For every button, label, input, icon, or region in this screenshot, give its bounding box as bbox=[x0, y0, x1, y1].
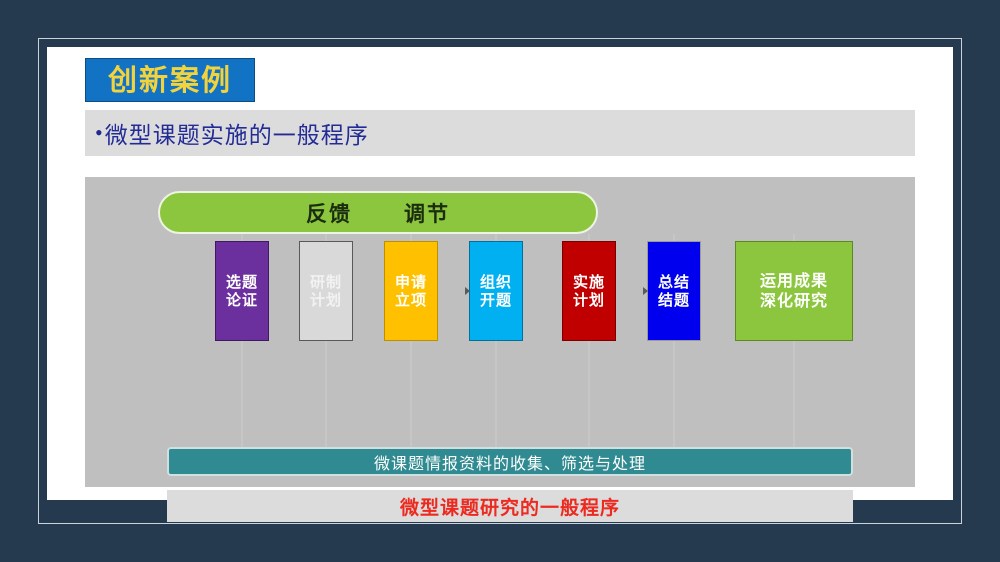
diagram-caption-text: 微型课题研究的一般程序 bbox=[400, 493, 620, 520]
process-step-plan-drafting: 研制计划 bbox=[299, 241, 353, 341]
connector-line-top bbox=[793, 234, 795, 241]
connector-line-top bbox=[673, 234, 675, 241]
information-support-bar: 微课题情报资料的收集、筛选与处理 bbox=[167, 447, 853, 476]
information-support-text: 微课题情报资料的收集、筛选与处理 bbox=[374, 450, 646, 474]
process-step-label: 结题 bbox=[658, 291, 690, 309]
process-step-label: 运用成果 bbox=[760, 271, 828, 291]
connector-line-bottom bbox=[673, 341, 675, 447]
process-step-plan-execution: 实施计划 bbox=[562, 241, 616, 341]
process-step-label: 计划 bbox=[310, 291, 342, 309]
process-step-label: 计划 bbox=[573, 291, 605, 309]
feedback-adjust-pill: 反馈 调节 bbox=[158, 191, 598, 234]
flow-arrow-icon bbox=[643, 287, 648, 295]
connector-line-top bbox=[325, 234, 327, 241]
process-step-topic-selection: 选题论证 bbox=[215, 241, 269, 341]
connector-line-top bbox=[588, 234, 590, 241]
diagram-panel: 反馈 调节 选题论证研制计划申请立项组织开题实施计划总结结题运用成果深化研究 微… bbox=[85, 177, 915, 487]
connector-line-bottom bbox=[325, 341, 327, 447]
adjust-label: 调节 bbox=[404, 198, 450, 228]
process-step-label: 实施 bbox=[573, 273, 605, 291]
process-step-label: 开题 bbox=[480, 291, 512, 309]
page-title-chip: 创新案例 bbox=[85, 58, 255, 102]
connector-line-bottom bbox=[588, 341, 590, 447]
flow-arrow-icon bbox=[465, 287, 470, 295]
connector-line-top bbox=[241, 234, 243, 241]
bullet-icon: • bbox=[95, 122, 103, 144]
connector-line-bottom bbox=[793, 341, 795, 447]
process-step-label: 立项 bbox=[395, 291, 427, 309]
process-step-label: 申请 bbox=[395, 273, 427, 291]
slide-stage: 创新案例 • 微型课题实施的一般程序 反馈 调节 选题论证研制计划申请立项组织开… bbox=[0, 0, 1000, 562]
process-step-summary-conclusion: 总结结题 bbox=[647, 241, 701, 341]
diagram-caption-bar: 微型课题研究的一般程序 bbox=[167, 490, 853, 522]
slide-canvas: 创新案例 • 微型课题实施的一般程序 反馈 调节 选题论证研制计划申请立项组织开… bbox=[47, 47, 953, 500]
process-step-label: 选题 bbox=[226, 273, 258, 291]
subtitle-band: • 微型课题实施的一般程序 bbox=[85, 110, 915, 156]
connector-line-bottom bbox=[241, 341, 243, 447]
process-step-organize-opening: 组织开题 bbox=[469, 241, 523, 341]
connector-line-top bbox=[495, 234, 497, 241]
process-step-label: 总结 bbox=[658, 273, 690, 291]
connector-line-bottom bbox=[410, 341, 412, 447]
process-step-label: 研制 bbox=[310, 273, 342, 291]
process-step-apply-results: 运用成果深化研究 bbox=[735, 241, 853, 341]
connector-line-bottom bbox=[495, 341, 497, 447]
process-step-project-application: 申请立项 bbox=[384, 241, 438, 341]
process-step-label: 论证 bbox=[226, 291, 258, 309]
connector-line-top bbox=[410, 234, 412, 241]
process-step-label: 组织 bbox=[480, 273, 512, 291]
subtitle-text: 微型课题实施的一般程序 bbox=[105, 116, 369, 150]
feedback-label: 反馈 bbox=[306, 198, 352, 228]
page-title: 创新案例 bbox=[108, 66, 232, 95]
process-step-label: 深化研究 bbox=[760, 291, 828, 311]
